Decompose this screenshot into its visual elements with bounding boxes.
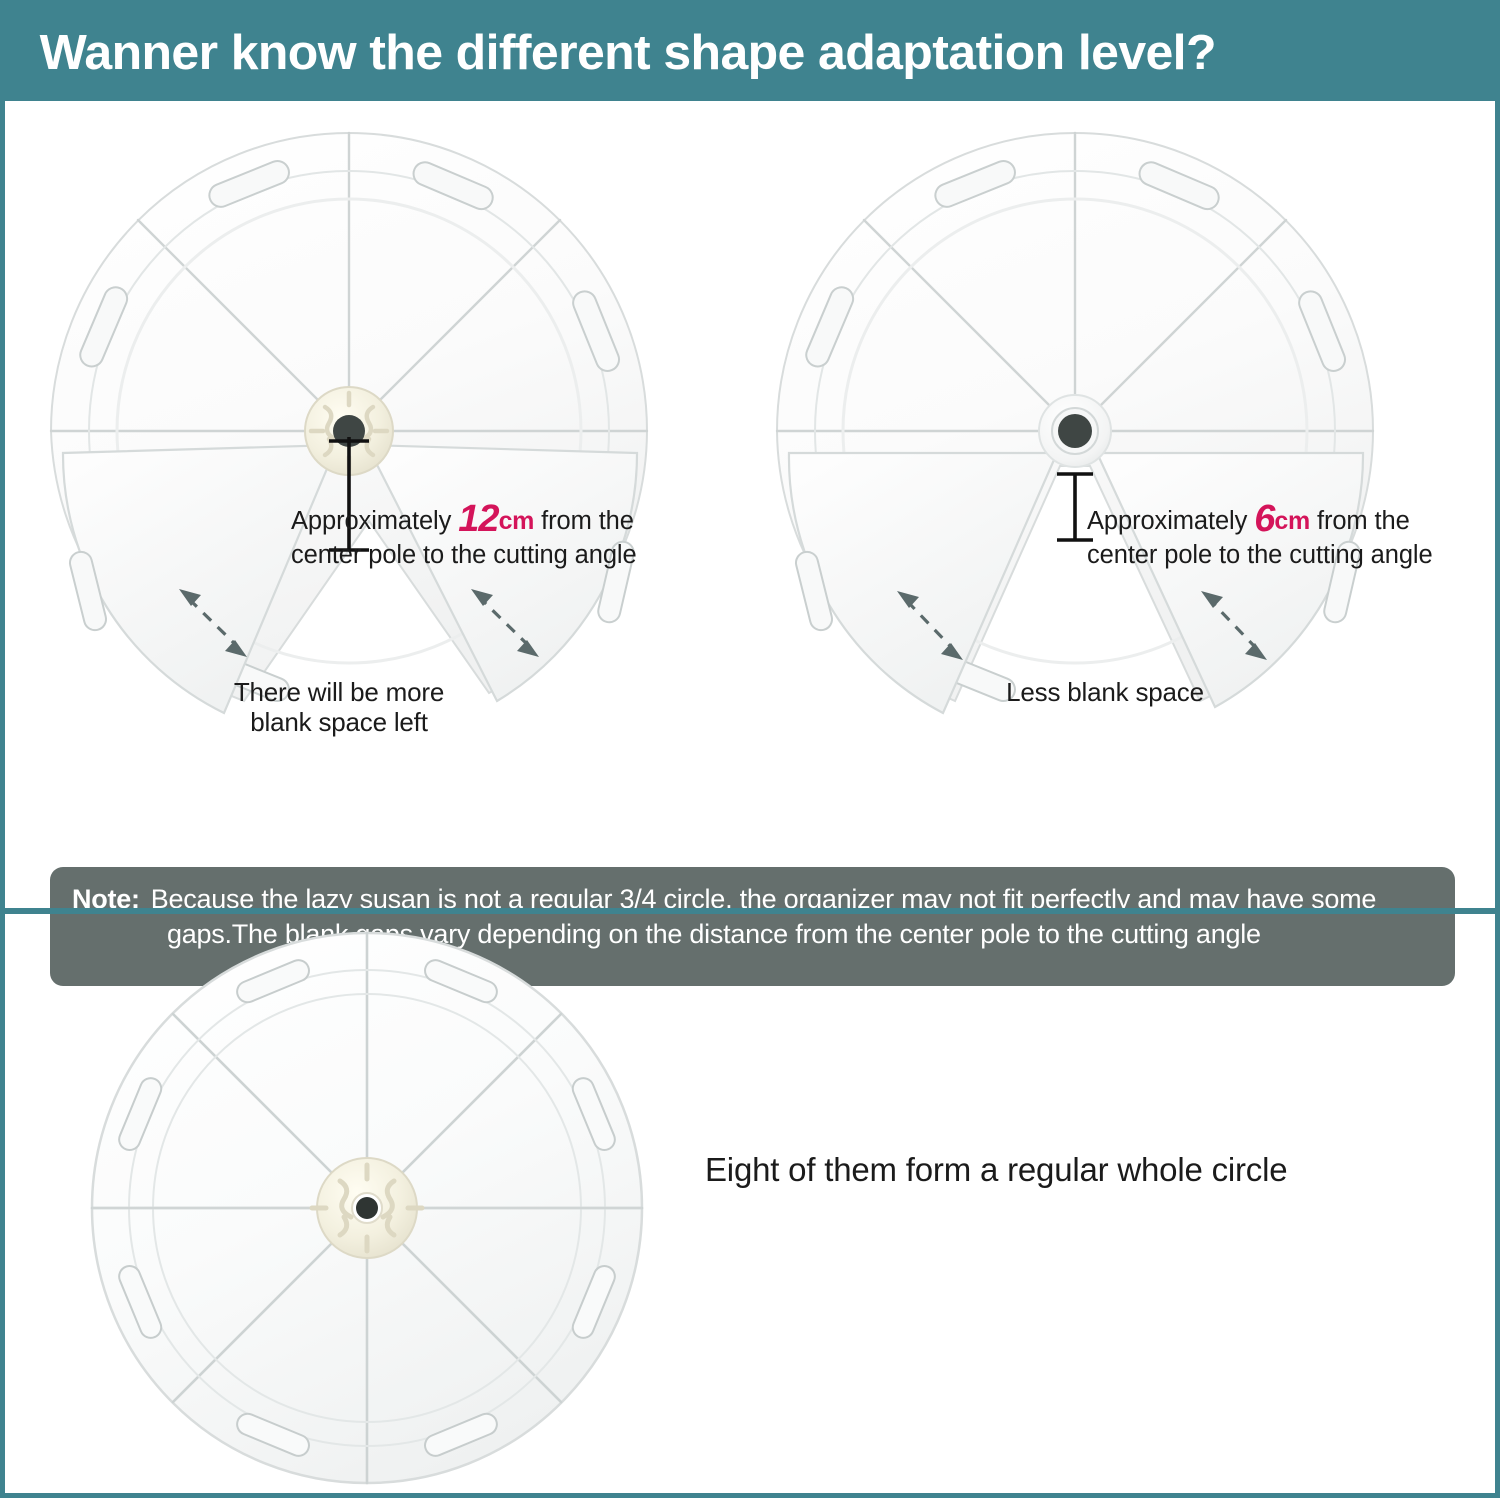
right-comparison-panel: Approximately 6cm from the center pole t… [745, 101, 1485, 741]
left-comparison-panel: Approximately 12cm from the center pole … [19, 101, 739, 741]
upper-section: Approximately 12cm from the center pole … [5, 101, 1495, 908]
page-title: Wanner know the different shape adaptati… [5, 25, 1216, 81]
measurement-label-6cm: Approximately 6cm from the center pole t… [1087, 497, 1433, 571]
measure-suffix: from the [541, 507, 634, 535]
whole-circle-caption: Eight of them form a regular whole circl… [705, 1151, 1287, 1189]
measure-prefix: Approximately [1087, 507, 1247, 535]
measure-unit: cm [1274, 507, 1310, 535]
detached-wedge-right [1097, 453, 1363, 707]
detached-wedge-left [789, 453, 1057, 713]
center-hub [1039, 395, 1111, 467]
blank-caption-line1: Less blank space [935, 678, 1275, 708]
measurement-label-12cm: Approximately 12cm from the center pole … [291, 497, 637, 571]
full-circle-diagram [67, 920, 687, 1500]
lower-section: Eight of them form a regular whole circl… [5, 914, 1495, 1495]
measure-suffix: from the [1317, 507, 1410, 535]
lazy-susan-12cm-diagram [19, 101, 739, 751]
measure-value: 12 [458, 498, 498, 540]
center-pole [356, 1197, 378, 1219]
center-pole [1058, 414, 1092, 448]
lazy-susan-6cm-diagram [745, 101, 1485, 751]
header-banner: Wanner know the different shape adaptati… [5, 5, 1495, 101]
measure-line2: center pole to the cutting angle [291, 541, 637, 571]
blank-caption-line1: There will be more [179, 678, 499, 708]
infographic-page: Wanner know the different shape adaptati… [0, 0, 1500, 1498]
blank-space-caption-left: There will be more blank space left [179, 678, 499, 738]
blank-caption-line2: blank space left [179, 708, 499, 738]
measure-value: 6 [1254, 498, 1274, 540]
measure-prefix: Approximately [291, 507, 451, 535]
blank-space-caption-right: Less blank space [935, 678, 1275, 708]
measure-unit: cm [499, 507, 535, 535]
measure-line2: center pole to the cutting angle [1087, 541, 1433, 571]
